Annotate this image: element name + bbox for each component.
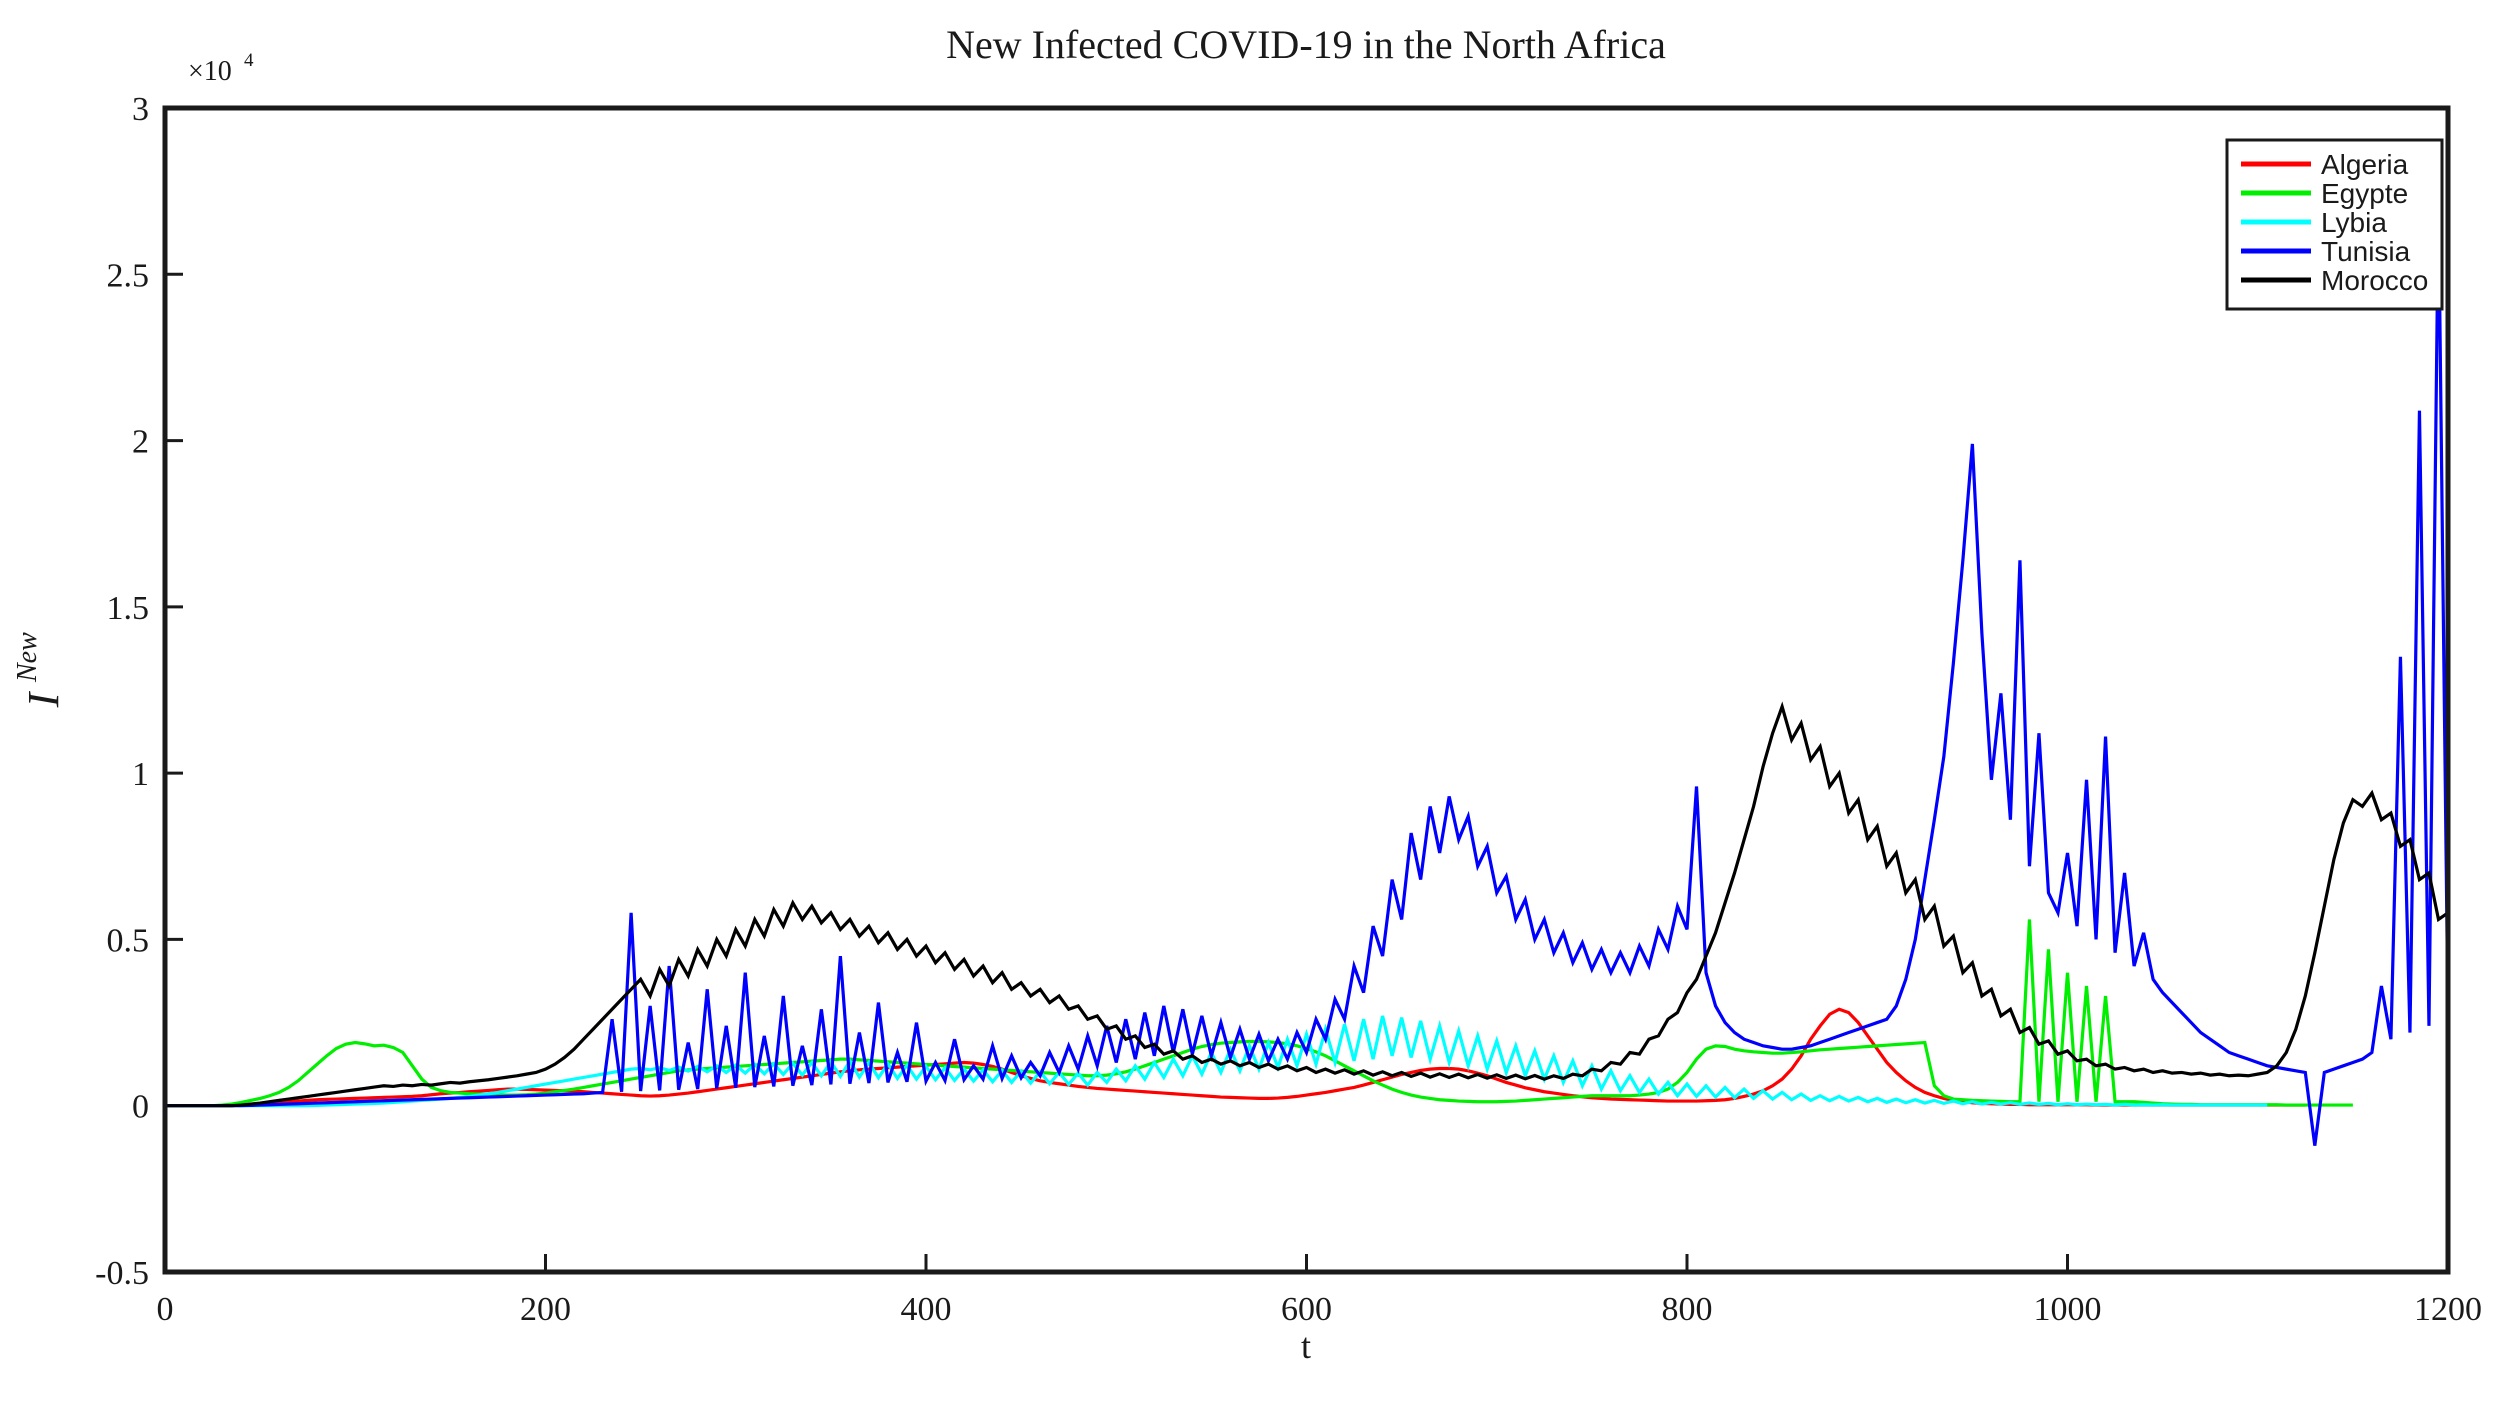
legend-label-algeria[interactable]: Algeria [2321, 149, 2409, 180]
y-exponent-superscript: 4 [244, 50, 254, 71]
covid-new-infected-chart: New Infected COVID-19 in the North Afric… [0, 0, 2516, 1405]
chart-legend[interactable]: AlgeriaEgypteLybiaTunisiaMorocco [2227, 140, 2442, 309]
x-axis-label: t [1301, 1326, 1311, 1366]
x-tick-label: 200 [520, 1291, 571, 1328]
chart-title: New Infected COVID-19 in the North Afric… [946, 22, 1666, 67]
chart-background [0, 0, 2516, 1405]
y-tick-label: 1 [132, 756, 149, 793]
y-axis-label-base: I [19, 690, 68, 708]
legend-label-tunisia[interactable]: Tunisia [2321, 236, 2411, 267]
y-tick-label: 2 [132, 424, 149, 461]
x-tick-label: 400 [901, 1291, 952, 1328]
figure-canvas: New Infected COVID-19 in the North Afric… [0, 0, 2516, 1405]
y-tick-label: 2.5 [107, 257, 150, 294]
x-tick-label: 600 [1281, 1291, 1332, 1328]
legend-label-egypte[interactable]: Egypte [2321, 178, 2408, 209]
legend-label-morocco[interactable]: Morocco [2321, 265, 2428, 296]
legend-label-lybia[interactable]: Lybia [2321, 207, 2387, 238]
y-tick-label: 0.5 [107, 922, 150, 959]
y-tick-label: 0 [132, 1089, 149, 1126]
x-tick-label: 1200 [2414, 1291, 2482, 1328]
y-axis-label-superscript: New [12, 632, 43, 683]
y-tick-label: 1.5 [107, 590, 150, 627]
y-exponent-base: ×10 [188, 56, 232, 87]
x-tick-label: 1000 [2034, 1291, 2102, 1328]
y-tick-label: 3 [132, 91, 149, 128]
x-tick-label: 0 [157, 1291, 174, 1328]
y-tick-label: -0.5 [95, 1255, 149, 1292]
x-tick-label: 800 [1662, 1291, 1713, 1328]
